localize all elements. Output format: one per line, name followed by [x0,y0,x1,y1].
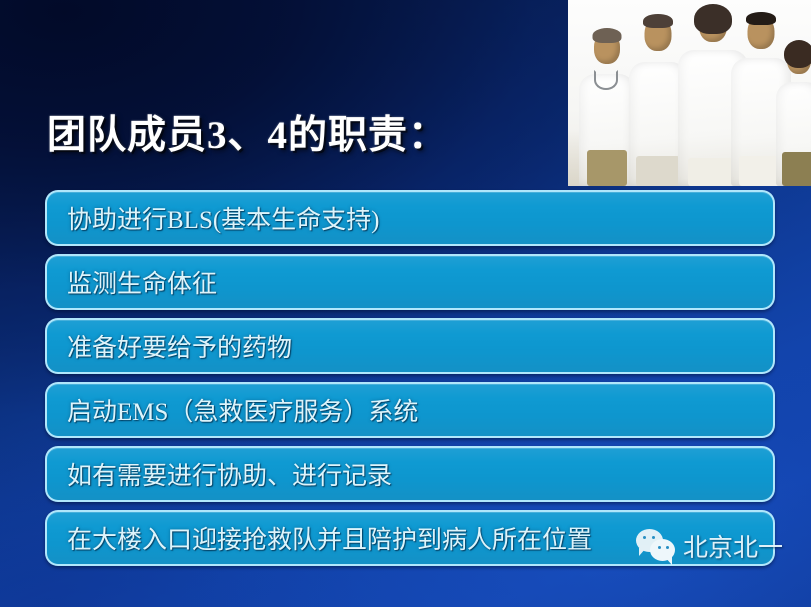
bullet-text: 协助进行BLS(基本生命支持) [47,200,380,236]
bullet-box[interactable]: 监测生命体征 [45,254,775,310]
bullet-box[interactable]: 协助进行BLS(基本生命支持) [45,190,775,246]
slide-canvas: 团队成员3、4的职责： 协助进行BLS(基本生命支持) 监测生命体征 准备好要给… [0,0,811,607]
bullet-list: 协助进行BLS(基本生命支持) 监测生命体征 准备好要给予的药物 启动EMS（急… [45,190,775,574]
medical-team-photo [568,0,811,186]
bullet-box[interactable]: 启动EMS（急救医疗服务）系统 [45,382,775,438]
bullet-box[interactable]: 如有需要进行协助、进行记录 [45,446,775,502]
staff-figure [774,36,811,186]
bullet-text: 启动EMS（急救医疗服务）系统 [47,392,418,428]
bullet-text: 在大楼入口迎接抢救队并且陪护到病人所在位置 [47,520,592,556]
bullet-text: 如有需要进行协助、进行记录 [47,456,392,492]
bullet-box[interactable]: 准备好要给予的药物 [45,318,775,374]
bullet-text: 准备好要给予的药物 [47,328,292,364]
slide-title: 团队成员3、4的职责： [47,104,448,160]
bullet-box[interactable]: 在大楼入口迎接抢救队并且陪护到病人所在位置 [45,510,775,566]
bullet-text: 监测生命体征 [47,264,217,300]
